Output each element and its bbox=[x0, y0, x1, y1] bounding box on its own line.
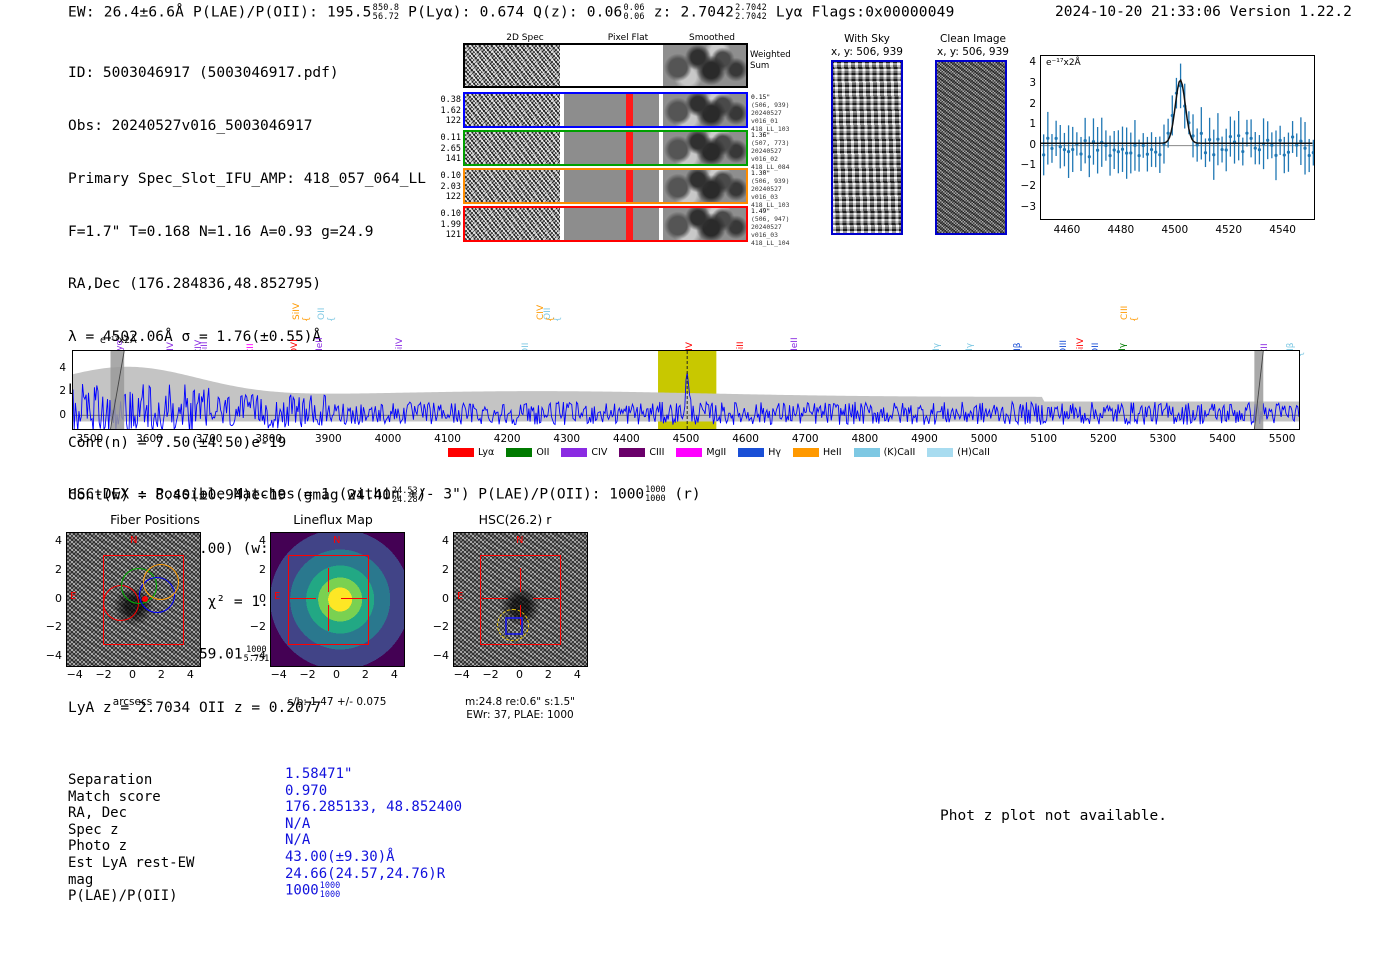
spectrum-xtick: 4800 bbox=[843, 433, 887, 445]
row-meta-line: 1.49" bbox=[751, 207, 789, 215]
weighted-sum-row bbox=[463, 43, 748, 88]
legend-swatch bbox=[793, 448, 819, 457]
weighted-sum-label: Weighted Sum bbox=[750, 50, 791, 72]
match-table-values: 1.58471"0.970176.285133, 48.852400N/AN/A… bbox=[285, 766, 462, 899]
match-table-key: Photo z bbox=[68, 838, 194, 855]
legend-swatch bbox=[676, 448, 702, 457]
row-stat: 2.65 bbox=[433, 144, 461, 155]
legend-swatch bbox=[619, 448, 645, 457]
cutout-ytick: −4 bbox=[44, 649, 62, 662]
spectrum-legend: LyαOIICIVCIIIMgIIHγHeII(K)CaII(H)CaII bbox=[448, 447, 990, 458]
fiber-row bbox=[463, 206, 748, 242]
row-meta-line: (507, 773) bbox=[751, 139, 789, 147]
legend-swatch bbox=[927, 448, 953, 457]
row-smoothed-image bbox=[663, 208, 746, 240]
row-2dspec-image bbox=[465, 132, 560, 164]
row-smoothed-image bbox=[663, 94, 746, 126]
full-spectrum-flux-annotation: e⁻¹⁷x2Å bbox=[100, 335, 137, 346]
spectrum-xtick: 4200 bbox=[485, 433, 529, 445]
fiber-row bbox=[463, 168, 748, 204]
match-table-value: 0.970 bbox=[285, 783, 462, 800]
cutout-ytick: 0 bbox=[248, 592, 266, 605]
fiber-east-label: E bbox=[70, 591, 76, 602]
row-right-meta: 0.15"(506, 939)20240527v016_01418_LL_103 bbox=[751, 93, 789, 133]
zoom-ytick: 2 bbox=[1018, 98, 1036, 110]
cutout-xtick: 2 bbox=[147, 668, 175, 681]
fiber-row bbox=[463, 130, 748, 166]
zoom-ytick: 4 bbox=[1018, 56, 1036, 68]
match-table-key: Match score bbox=[68, 789, 194, 806]
row-2dspec-image bbox=[465, 208, 560, 240]
cutout-xtick: 2 bbox=[351, 668, 379, 681]
lineflux-east-label: E bbox=[274, 591, 280, 602]
full-spectrum-plot bbox=[72, 350, 1300, 430]
cutout-xtick: 4 bbox=[176, 668, 204, 681]
row-flagged-column bbox=[626, 208, 633, 240]
cutout-ytick: −2 bbox=[431, 620, 449, 633]
lineflux-caption: s/b: 1.47 +/- 0.075 bbox=[253, 696, 421, 708]
row-meta-line: 0.15" bbox=[751, 93, 789, 101]
legend-swatch bbox=[561, 448, 587, 457]
emission-label: SiIV bbox=[292, 303, 302, 320]
info-line-fwhm: F=1.7" T=0.168 N=1.16 A=0.93 g=24.9 bbox=[68, 224, 426, 242]
zoom-xtick: 4520 bbox=[1212, 224, 1246, 236]
hsc-r-image: N E bbox=[453, 532, 588, 667]
legend-swatch bbox=[738, 448, 764, 457]
match-table-key: mag bbox=[68, 872, 194, 889]
full-spectrum-svg bbox=[73, 351, 1299, 429]
legend-item: Lyα bbox=[448, 447, 494, 458]
hsc-east-label: E bbox=[457, 591, 463, 602]
row-right-meta: 1.30"(506, 939)20240527v016_03418_LL_103 bbox=[751, 169, 789, 209]
cutout-xtick: 0 bbox=[506, 668, 534, 681]
row-pixelflat-image bbox=[564, 170, 659, 202]
match-table-value: 24.66(24.57,24.76)R bbox=[285, 866, 462, 883]
spectrum-xtick: 4400 bbox=[604, 433, 648, 445]
cutout-ytick: 2 bbox=[431, 563, 449, 576]
col-title-smoothed: Smoothed bbox=[657, 33, 767, 43]
line-zoom-plot: e⁻¹⁷x2Å bbox=[1040, 55, 1315, 220]
spectrum-xtick: 5200 bbox=[1081, 433, 1125, 445]
cutout-xtick: 4 bbox=[563, 668, 591, 681]
spectrum-xtick: 5300 bbox=[1141, 433, 1185, 445]
cutout-xtick: −2 bbox=[90, 668, 118, 681]
match-table-value: 100010001000 bbox=[285, 882, 462, 899]
hsc-crosshair-top bbox=[520, 568, 521, 592]
cutout-ytick: 2 bbox=[44, 563, 62, 576]
zoom-ytick: 3 bbox=[1018, 77, 1036, 89]
row-stat: 1.99 bbox=[433, 220, 461, 231]
fiber-center-marker bbox=[142, 596, 148, 602]
lineflux-crosshair-bottom bbox=[328, 605, 329, 631]
legend-item: OII bbox=[506, 447, 549, 458]
lineflux-crosshair-right bbox=[341, 598, 367, 599]
spectrum-xtick: 3700 bbox=[187, 433, 231, 445]
match-table-key: RA, Dec bbox=[68, 805, 194, 822]
match-table-key: Spec z bbox=[68, 822, 194, 839]
spectrum-xtick: 3900 bbox=[306, 433, 350, 445]
row-flagged-column bbox=[626, 94, 633, 126]
photz-message: Phot z plot not available. bbox=[940, 808, 1167, 824]
row-stat: 0.10 bbox=[433, 209, 461, 220]
spectrum-ytick: 2 bbox=[48, 385, 66, 397]
hsc-crosshair-right bbox=[533, 598, 559, 599]
spectrum-xtick: 4600 bbox=[724, 433, 768, 445]
emission-brace: { bbox=[327, 317, 337, 322]
header-flags: Lyα Flags:0x00000049 bbox=[776, 5, 955, 21]
emission-brace: { bbox=[1130, 317, 1140, 322]
legend-label: CIV bbox=[591, 447, 607, 458]
row-stat: 0.38 bbox=[433, 95, 461, 106]
spectrum-ytick: 4 bbox=[48, 362, 66, 374]
cutout-xtick: 0 bbox=[119, 668, 147, 681]
row-meta-line: v016_01 bbox=[751, 117, 789, 125]
row-stat: 2.03 bbox=[433, 182, 461, 193]
row-left-stats: 0.381.62122 bbox=[433, 95, 461, 127]
zoom-ytick: 1 bbox=[1018, 118, 1036, 130]
weighted-sum-smoothed-image bbox=[663, 45, 746, 86]
with-sky-image bbox=[831, 60, 903, 235]
row-meta-line: 20240527 bbox=[751, 147, 789, 155]
cutout-ytick: −4 bbox=[248, 649, 266, 662]
fiber-caption: arcsecs bbox=[66, 696, 199, 708]
info-line-id: ID: 5003046917 (5003046917.pdf) bbox=[68, 65, 426, 83]
row-stat: 141 bbox=[433, 154, 461, 165]
cleanimage-titles: Clean Image x, y: 506, 939 bbox=[915, 33, 1031, 58]
cutout-ytick: 2 bbox=[248, 563, 266, 576]
header-summary-line: EW: 26.4±6.6Å P(LAE)/P(OII): 195.5850.85… bbox=[68, 4, 955, 21]
legend-swatch bbox=[506, 448, 532, 457]
row-stat: 0.10 bbox=[433, 171, 461, 182]
row-meta-line: v016_02 bbox=[751, 155, 789, 163]
cutout-xtick: −2 bbox=[477, 668, 505, 681]
row-meta-line: (506, 939) bbox=[751, 177, 789, 185]
row-meta-line: 20240527 bbox=[751, 223, 789, 231]
match-table-value: 176.285133, 48.852400 bbox=[285, 799, 462, 816]
cutout-xtick: −4 bbox=[448, 668, 476, 681]
spectrum-xtick: 4700 bbox=[783, 433, 827, 445]
zoom-ytick: 0 bbox=[1018, 139, 1036, 151]
row-smoothed-image bbox=[663, 132, 746, 164]
zoom-ytick: −2 bbox=[1018, 180, 1036, 192]
match-table-value: N/A bbox=[285, 832, 462, 849]
row-left-stats: 0.112.65141 bbox=[433, 133, 461, 165]
emission-brace: { bbox=[302, 317, 312, 322]
row-meta-line: 1.36" bbox=[751, 131, 789, 139]
hscdex-match-line: HSC-DEX : Possible Matches = 1 (within +… bbox=[68, 486, 701, 503]
hsc-match-square bbox=[505, 617, 523, 635]
spectrum-xtick: 5100 bbox=[1022, 433, 1066, 445]
legend-label: OII bbox=[536, 447, 549, 458]
cutout-xtick: 4 bbox=[380, 668, 408, 681]
legend-label: (K)CaII bbox=[884, 447, 916, 458]
cutout-ytick: 0 bbox=[44, 592, 62, 605]
col-title-2dspec: 2D Spec bbox=[470, 33, 580, 43]
cutout-xtick: −4 bbox=[61, 668, 89, 681]
row-flagged-column bbox=[626, 132, 633, 164]
spectrum-xtick: 4300 bbox=[545, 433, 589, 445]
spectrum-xtick: 4100 bbox=[426, 433, 470, 445]
spectrum-ytick: 0 bbox=[48, 409, 66, 421]
row-smoothed-image bbox=[663, 170, 746, 202]
emission-label: OII bbox=[317, 308, 327, 320]
match-table-key: Est LyA rest-EW bbox=[68, 855, 194, 872]
cutout-ytick: −2 bbox=[44, 620, 62, 633]
zoom-ytick: −3 bbox=[1018, 201, 1036, 213]
zoomplot-flux-annotation: e⁻¹⁷x2Å bbox=[1046, 58, 1081, 68]
legend-item: (H)CaII bbox=[927, 447, 990, 458]
match-table-value: 43.00(±9.30)Å bbox=[285, 849, 462, 866]
row-meta-line: 20240527 bbox=[751, 185, 789, 193]
spectrum-xtick: 3500 bbox=[68, 433, 112, 445]
legend-item: MgII bbox=[676, 447, 726, 458]
lineflux-north-label: N bbox=[333, 535, 340, 546]
row-2dspec-image bbox=[465, 170, 560, 202]
cutout-title-lineflux-map: Lineflux Map bbox=[238, 512, 428, 527]
spectrum-xtick: 5500 bbox=[1260, 433, 1304, 445]
match-table-key: P(LAE)/P(OII) bbox=[68, 888, 194, 905]
row-stat: 122 bbox=[433, 192, 461, 203]
hsc-crosshair-left bbox=[482, 598, 508, 599]
lineflux-crosshair-left bbox=[290, 598, 316, 599]
cutout-ytick: 4 bbox=[44, 534, 62, 547]
row-pixelflat-image bbox=[564, 132, 659, 164]
hsc-caption-2: EWr: 37, PLAE: 1000 bbox=[440, 709, 600, 721]
legend-item: HeII bbox=[793, 447, 842, 458]
cutout-ytick: −4 bbox=[431, 649, 449, 662]
row-stat: 121 bbox=[433, 230, 461, 241]
legend-item: Hγ bbox=[738, 447, 781, 458]
row-pixelflat-image bbox=[564, 94, 659, 126]
zoom-ytick: −1 bbox=[1018, 159, 1036, 171]
row-meta-line: v016_03 bbox=[751, 231, 789, 239]
legend-label: Lyα bbox=[478, 447, 494, 458]
row-right-meta: 1.49"(506, 947)20240527v016_03418_LL_104 bbox=[751, 207, 789, 247]
spectrum-xtick: 4900 bbox=[902, 433, 946, 445]
hscdex-text: HSC-DEX : Possible Matches = 1 (within +… bbox=[68, 487, 644, 503]
match-table-value: N/A bbox=[285, 816, 462, 833]
cutout-ytick: −2 bbox=[248, 620, 266, 633]
emission-brace: { bbox=[546, 317, 556, 322]
row-meta-line: 20240527 bbox=[751, 109, 789, 117]
spectrum-xtick: 3600 bbox=[127, 433, 171, 445]
match-table-keys: SeparationMatch scoreRA, DecSpec zPhoto … bbox=[68, 772, 194, 905]
fiber-circle-orange bbox=[143, 564, 179, 600]
row-2dspec-image bbox=[465, 94, 560, 126]
cutout-xtick: 0 bbox=[323, 668, 351, 681]
row-stat: 122 bbox=[433, 116, 461, 127]
fiber-north-label: N bbox=[130, 535, 137, 546]
legend-label: CIII bbox=[649, 447, 664, 458]
row-left-stats: 0.101.99121 bbox=[433, 209, 461, 241]
header-z-uncertainty: 2.70422.7042 bbox=[735, 4, 767, 21]
spectrum-xtick: 5000 bbox=[962, 433, 1006, 445]
emission-label: CIV bbox=[536, 305, 546, 320]
lineflux-crosshair-top bbox=[328, 568, 329, 592]
info-line-obs: Obs: 20240527v016_5003046917 bbox=[68, 118, 426, 136]
fiber-row bbox=[463, 92, 748, 128]
header-ew-plae: EW: 26.4±6.6Å P(LAE)/P(OII): 195.5 bbox=[68, 5, 372, 21]
lineflux-map-image: N E bbox=[270, 532, 405, 667]
fiber-positions-image: N E bbox=[66, 532, 201, 667]
spectrum-xtick: 5400 bbox=[1201, 433, 1245, 445]
legend-swatch bbox=[448, 448, 474, 457]
cutout-title-hsc-r: HSC(26.2) r bbox=[420, 512, 610, 527]
cutout-ytick: 4 bbox=[431, 534, 449, 547]
match-plae-uncertainty: 10001000 bbox=[320, 882, 340, 899]
row-right-meta: 1.36"(507, 773)20240527v016_02418_LL_084 bbox=[751, 131, 789, 171]
match-table-value: 1.58471" bbox=[285, 766, 462, 783]
zoom-xtick: 4480 bbox=[1104, 224, 1138, 236]
zoom-xtick: 4460 bbox=[1050, 224, 1084, 236]
header-plya-qz: P(Lyα): 0.674 Q(z): 0.06 bbox=[408, 5, 622, 21]
clean-image bbox=[935, 60, 1007, 235]
legend-label: MgII bbox=[706, 447, 726, 458]
zoom-xtick: 4540 bbox=[1266, 224, 1300, 236]
legend-item: CIII bbox=[619, 447, 664, 458]
row-meta-line: 1.30" bbox=[751, 169, 789, 177]
spectrum-xtick: 4000 bbox=[366, 433, 410, 445]
row-stat: 1.62 bbox=[433, 106, 461, 117]
weighted-sum-2dspec-image bbox=[465, 45, 560, 86]
header-plae-uncertainty: 850.856.72 bbox=[373, 4, 400, 21]
row-meta-line: (506, 939) bbox=[751, 101, 789, 109]
legend-item: CIV bbox=[561, 447, 607, 458]
cutout-ytick: 4 bbox=[248, 534, 266, 547]
legend-label: HeII bbox=[823, 447, 842, 458]
row-pixelflat-image bbox=[564, 208, 659, 240]
row-flagged-column bbox=[626, 170, 633, 202]
cutout-title-fiber-positions: Fiber Positions bbox=[60, 512, 250, 527]
legend-label: (H)CaII bbox=[957, 447, 990, 458]
spectrum-xtick: 3800 bbox=[247, 433, 291, 445]
row-stat: 0.11 bbox=[433, 133, 461, 144]
spectrum-xtick: 4500 bbox=[664, 433, 708, 445]
row-left-stats: 0.102.03122 bbox=[433, 171, 461, 203]
cutout-xtick: 2 bbox=[534, 668, 562, 681]
legend-item: (K)CaII bbox=[854, 447, 916, 458]
hsc-north-label: N bbox=[516, 535, 523, 546]
emission-label: CIII bbox=[1120, 306, 1130, 320]
row-meta-line: (506, 947) bbox=[751, 215, 789, 223]
zoom-xtick: 4500 bbox=[1158, 224, 1192, 236]
hscdex-band: (r) bbox=[674, 487, 700, 503]
withsky-titles: With Sky x, y: 506, 939 bbox=[812, 33, 922, 58]
legend-swatch bbox=[854, 448, 880, 457]
header-qz-uncertainty: 0.060.06 bbox=[623, 4, 644, 21]
weighted-sum-pixelflat-image bbox=[564, 45, 659, 86]
legend-label: Hγ bbox=[768, 447, 781, 458]
header-z: z: 2.7042 bbox=[654, 5, 734, 21]
cutout-xtick: −2 bbox=[294, 668, 322, 681]
hsc-caption-1: m:24.8 re:0.6" s:1.5" bbox=[440, 696, 600, 708]
match-table-key: Separation bbox=[68, 772, 194, 789]
info-line-primary: Primary Spec_Slot_IFU_AMP: 418_057_064_L… bbox=[68, 171, 426, 189]
info-line-radec: RA,Dec (176.284836,48.852795) bbox=[68, 276, 426, 294]
row-meta-line: 418_LL_104 bbox=[751, 239, 789, 247]
cutout-ytick: 0 bbox=[431, 592, 449, 605]
header-datetime-version: 2024-10-20 21:33:06 Version 1.22.2 bbox=[1055, 4, 1352, 20]
row-meta-line: v016_03 bbox=[751, 193, 789, 201]
cutout-xtick: −4 bbox=[265, 668, 293, 681]
hscdex-plae-uncertainty: 10001000 bbox=[645, 486, 665, 503]
line-zoom-svg bbox=[1041, 56, 1314, 219]
